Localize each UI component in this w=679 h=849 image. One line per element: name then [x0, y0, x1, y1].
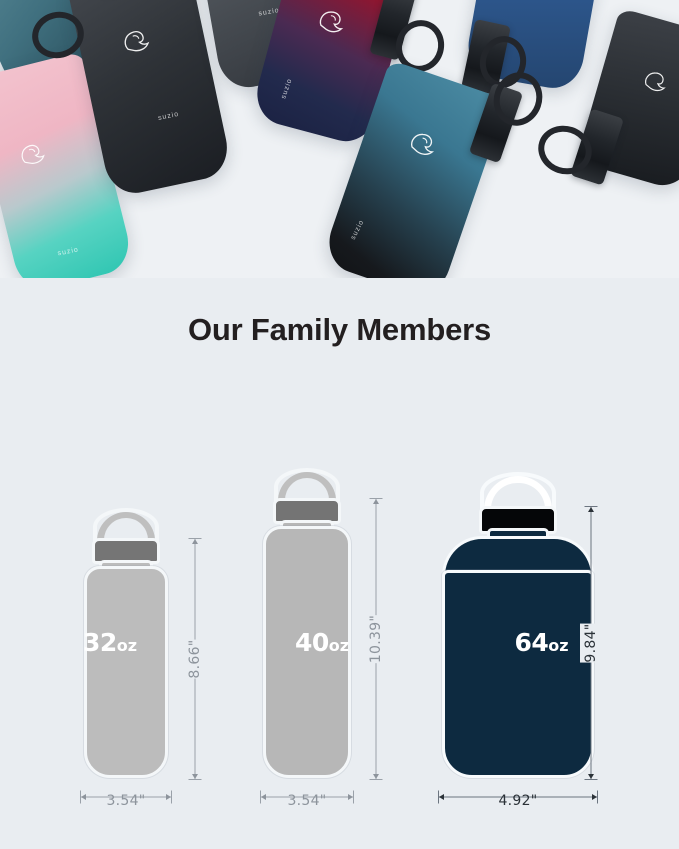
- bottle-spec-64oz: 64oz 9.84" 4.92": [404, 430, 679, 849]
- height-dimension-32oz: 8.66": [182, 538, 208, 780]
- bottle-body-32oz: [84, 566, 168, 778]
- dimension-arrow-top: [373, 499, 379, 504]
- height-value-32oz: 8.66": [184, 639, 206, 678]
- bottle-body-64oz: [442, 570, 594, 778]
- width-dimension-64oz: 4.92": [438, 782, 598, 812]
- capacity-unit: oz: [548, 636, 568, 655]
- bird-logo-icon: [114, 21, 157, 64]
- dimension-end-cap-bottom: [370, 779, 383, 780]
- product-photo-collage: suzio suzio suzio suzio: [0, 0, 679, 278]
- capacity-number: 64: [514, 628, 548, 657]
- height-value-40oz: 10.39": [365, 615, 387, 663]
- capacity-label-64oz: 64oz: [404, 628, 679, 657]
- dimension-end-cap-bottom: [585, 779, 598, 780]
- capacity-number: 32: [83, 628, 117, 657]
- width-dimension-40oz: 3.54": [260, 782, 354, 812]
- width-value-64oz: 4.92": [438, 793, 598, 809]
- dimension-arrow-top: [588, 507, 594, 512]
- bottle-size-comparison: 32oz 8.66" 3.54" 40oz: [0, 430, 679, 849]
- dimension-end-cap-bottom: [189, 779, 202, 780]
- height-dimension-64oz: 9.84": [578, 506, 604, 780]
- bottle-spec-40oz: 40oz 10.39" 3.54": [212, 430, 432, 849]
- width-value-32oz: 3.54": [80, 793, 172, 809]
- page-title: Our Family Members: [0, 312, 679, 348]
- dimension-arrow-bottom: [588, 774, 594, 779]
- capacity-unit: oz: [117, 636, 137, 655]
- dimension-arrow-bottom: [192, 774, 198, 779]
- bottle-spec-32oz: 32oz 8.66" 3.54": [0, 430, 220, 849]
- capacity-label-40oz: 40oz: [212, 628, 432, 657]
- height-dimension-40oz: 10.39": [363, 498, 389, 780]
- height-value-64oz: 9.84": [580, 623, 602, 662]
- width-dimension-32oz: 3.54": [80, 782, 172, 812]
- dimension-arrow-top: [192, 539, 198, 544]
- width-value-40oz: 3.54": [260, 793, 354, 809]
- capacity-number: 40: [295, 628, 329, 657]
- capacity-unit: oz: [329, 636, 349, 655]
- dimension-arrow-bottom: [373, 774, 379, 779]
